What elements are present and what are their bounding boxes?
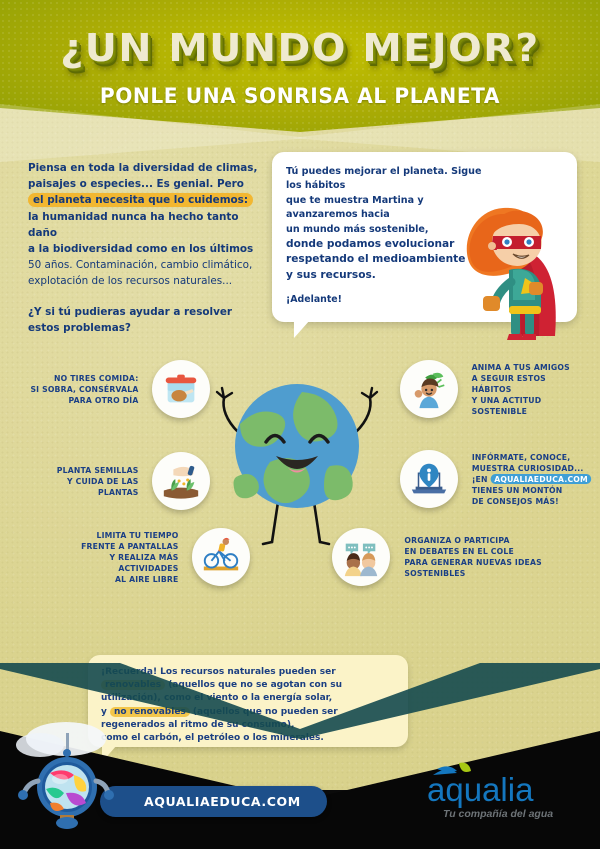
aqualiaeduca-link[interactable]: AQUALIAEDUCA.COM (490, 474, 591, 484)
bubble-line-1: Tú puedes mejorar el planeta. Sigue los … (286, 166, 482, 191)
bubble-line-6: y sus recursos. (286, 269, 376, 281)
tip-line: NO TIRES COMIDA: (54, 373, 138, 383)
tip-line: DE CONSEJOS MÁS! (472, 496, 559, 506)
tip-screen-time-label: LIMITA TU TIEMPO FRENTE A PANTALLAS Y RE… (68, 530, 179, 585)
tip-line: SOSTENIBLES (404, 568, 465, 578)
tip-debates-label: ORGANIZA O PARTICIPA EN DEBATES EN EL CO… (404, 535, 541, 579)
tip-line: PLANTA SEMILLAS (57, 465, 139, 475)
cheering-kid-leaves-icon (400, 360, 458, 418)
tip-line: AL AIRE LIBRE (115, 574, 178, 584)
tip-inform-yourself-label: INFÓRMATE, CONOCE, MUESTRA CURIOSIDAD...… (472, 452, 592, 507)
watering-hand-plant-icon (152, 452, 210, 510)
tip-line: PARA GENERAR NUEVAS IDEAS (404, 557, 541, 567)
tip-plant-seeds: PLANTA SEMILLAS Y CUIDA DE LAS PLANTAS (24, 452, 210, 510)
intro-question-2: estos problemas? (28, 322, 131, 334)
intro-line-4: a la biodiversidad como en los últimos (28, 243, 253, 255)
remember-seg-2: (aquellos que no se agotan con su (165, 680, 342, 690)
intro-paragraph: Piensa en toda la diversidad de climas, … (28, 160, 268, 336)
tip-line: FRENTE A PANTALLAS (81, 541, 178, 551)
tip-line: Y CUIDA DE LAS PLANTAS (67, 476, 138, 497)
page-subtitle: PONLE UNA SONRISA AL PLANETA (12, 84, 588, 108)
tip-line: INFÓRMATE, CONOCE, (472, 452, 571, 462)
tip-line-prefix: ¡EN (472, 474, 491, 484)
brand-wordmark: aqualia (427, 771, 534, 808)
intro-highlight: el planeta necesita que lo cuidemos: (28, 193, 253, 207)
tip-line: ANIMA A TUS AMIGOS (472, 362, 570, 372)
tip-line: TIENES UN MONTÓN (472, 485, 563, 495)
tip-plant-seeds-label: PLANTA SEMILLAS Y CUIDA DE LAS PLANTAS (28, 465, 139, 498)
cyclist-icon (192, 528, 250, 586)
aqualiaeduca-url-button[interactable]: AQUALIAEDUCA.COM (100, 786, 327, 817)
aqualia-brand-logo: aqualia Tu compañía del agua (411, 761, 576, 825)
robot-globe-mascot (10, 719, 130, 831)
tip-line: PARA OTRO DÍA (69, 395, 139, 405)
infographic-poster: ¿UN MUNDO MEJOR? PONLE UNA SONRISA AL PL… (0, 0, 600, 849)
tip-line: SI SOBRA, CONSÉRVALA (31, 384, 139, 394)
tip-debates: ORGANIZA O PARTICIPA EN DEBATES EN EL CO… (332, 528, 594, 586)
intro-line-3: la humanidad nunca ha hecho tanto daño (28, 211, 239, 239)
bubble-line-3: un mundo más sostenible, (286, 224, 429, 235)
bubble-line-4: donde podamos evolucionar (286, 238, 454, 250)
bubble-line-5: respetando el medioambiente (286, 253, 465, 265)
remember-seg-4: y (101, 707, 110, 717)
remember-seg-1: Los recursos naturales pueden ser (157, 667, 336, 677)
tip-screen-time: LIMITA TU TIEMPO FRENTE A PANTALLAS Y RE… (64, 528, 250, 586)
tip-encourage-friends: ANIMA A TUS AMIGOS A SEGUIR ESTOS HÁBITO… (400, 360, 590, 418)
martina-superhero-character (455, 196, 575, 341)
laptop-info-icon (400, 450, 458, 508)
tip-line: MUESTRA CURIOSIDAD... (472, 463, 584, 473)
two-kids-speech-bubbles-icon (332, 528, 390, 586)
page-title: ¿UN MUNDO MEJOR? (0, 26, 600, 70)
food-container-icon (152, 360, 210, 418)
remember-box: ¡Recuerda! Los recursos naturales pueden… (88, 655, 408, 747)
brand-tagline-text: Tu compañía del agua (443, 808, 553, 820)
tip-line: EN DEBATES EN EL COLE (404, 546, 514, 556)
tip-line: Y UNA ACTITUD SOSTENIBLE (472, 395, 542, 416)
tip-line: A SEGUIR ESTOS HÁBITOS (472, 373, 546, 394)
intro-question-1: ¿Y si tú pudieras ayudar a resolver (28, 304, 268, 320)
intro-line-6: explotación de los recursos naturales... (28, 275, 232, 287)
tip-food-waste-label: NO TIRES COMIDA: SI SOBRA, CONSÉRVALA PA… (31, 373, 139, 406)
tip-line: ORGANIZA O PARTICIPA (404, 535, 509, 545)
tip-line: LIMITA TU TIEMPO (96, 530, 178, 540)
tip-inform-yourself: INFÓRMATE, CONOCE, MUESTRA CURIOSIDAD...… (400, 450, 596, 508)
tip-line: Y REALIZA MÁS ACTIVIDADES (109, 552, 178, 573)
tip-food-waste: NO TIRES COMIDA: SI SOBRA, CONSÉRVALA PA… (24, 360, 210, 418)
intro-line-1: Piensa en toda la diversidad de climas, (28, 162, 257, 174)
intro-line-2: paisajes o especies... Es genial. Pero (28, 178, 244, 190)
bubble-line-2: que te muestra Martina y avanzaremos hac… (286, 195, 424, 220)
tip-encourage-friends-label: ANIMA A TUS AMIGOS A SEGUIR ESTOS HÁBITO… (472, 362, 587, 417)
intro-line-5: 50 años. Contaminación, cambio climático… (28, 259, 252, 271)
